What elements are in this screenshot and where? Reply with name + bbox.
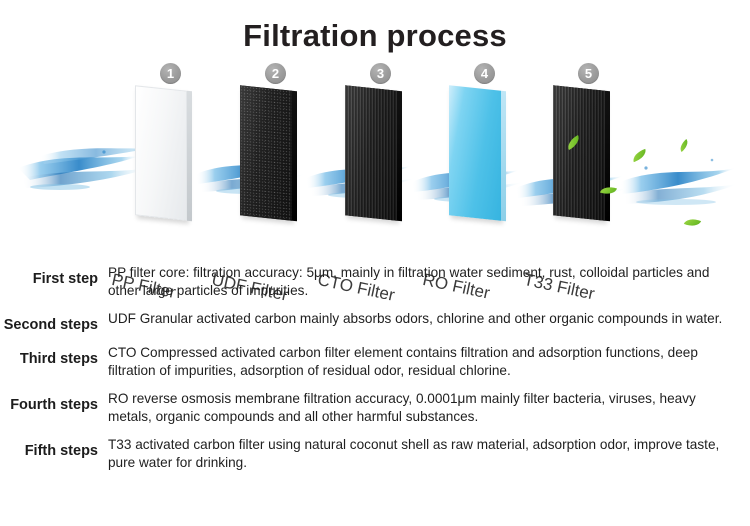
step-label: Second steps [0,310,108,333]
step-row: First step PP filter core: filtration ac… [0,264,750,299]
steps-list: First step PP filter core: filtration ac… [0,264,750,482]
leaf-icon [684,216,701,230]
step-row: Fifth steps T33 activated carbon filter … [0,436,750,471]
infographic-page: Filtration process [0,0,750,526]
filter-face [240,85,292,220]
step-row: Third steps CTO Compressed activated car… [0,344,750,379]
filter-edge [397,91,402,222]
filter-plate-cto [345,85,397,220]
filter-face [135,85,187,220]
filtration-diagram: 1 PP Filter 2 UDF Filter 3 CTO Filter 4 … [0,56,750,261]
filter-edge [605,91,610,222]
step-row: Second steps UDF Granular activated carb… [0,310,750,333]
step-description: T33 activated carbon filter using natura… [108,436,750,471]
filter-edge [501,91,506,222]
stage-badge-2: 2 [265,63,286,84]
stage-badge-1: 1 [160,63,181,84]
filter-edge [187,91,192,222]
step-description: RO reverse osmosis membrane filtration a… [108,390,750,425]
step-row: Fourth steps RO reverse osmosis membrane… [0,390,750,425]
page-title: Filtration process [0,18,750,54]
step-label: First step [0,264,108,287]
leaf-icon [677,139,691,152]
filter-face [553,85,605,220]
step-label: Fourth steps [0,390,108,413]
step-label: Third steps [0,344,108,367]
stage-badge-5: 5 [578,63,599,84]
filter-plate-udf [240,85,292,220]
step-description: PP filter core: filtration accuracy: 5μm… [108,264,750,299]
stage-badge-4: 4 [474,63,495,84]
step-label: Fifth steps [0,436,108,459]
leaf-icon [631,149,648,162]
stage-badge-3: 3 [370,63,391,84]
filter-plate-pp [135,85,187,220]
filter-plate-ro [449,85,501,220]
step-description: UDF Granular activated carbon mainly abs… [108,310,750,328]
filter-edge [292,91,297,222]
filter-plate-t33 [553,85,605,220]
filter-face [449,85,501,220]
filter-face [345,85,397,220]
step-description: CTO Compressed activated carbon filter e… [108,344,750,379]
